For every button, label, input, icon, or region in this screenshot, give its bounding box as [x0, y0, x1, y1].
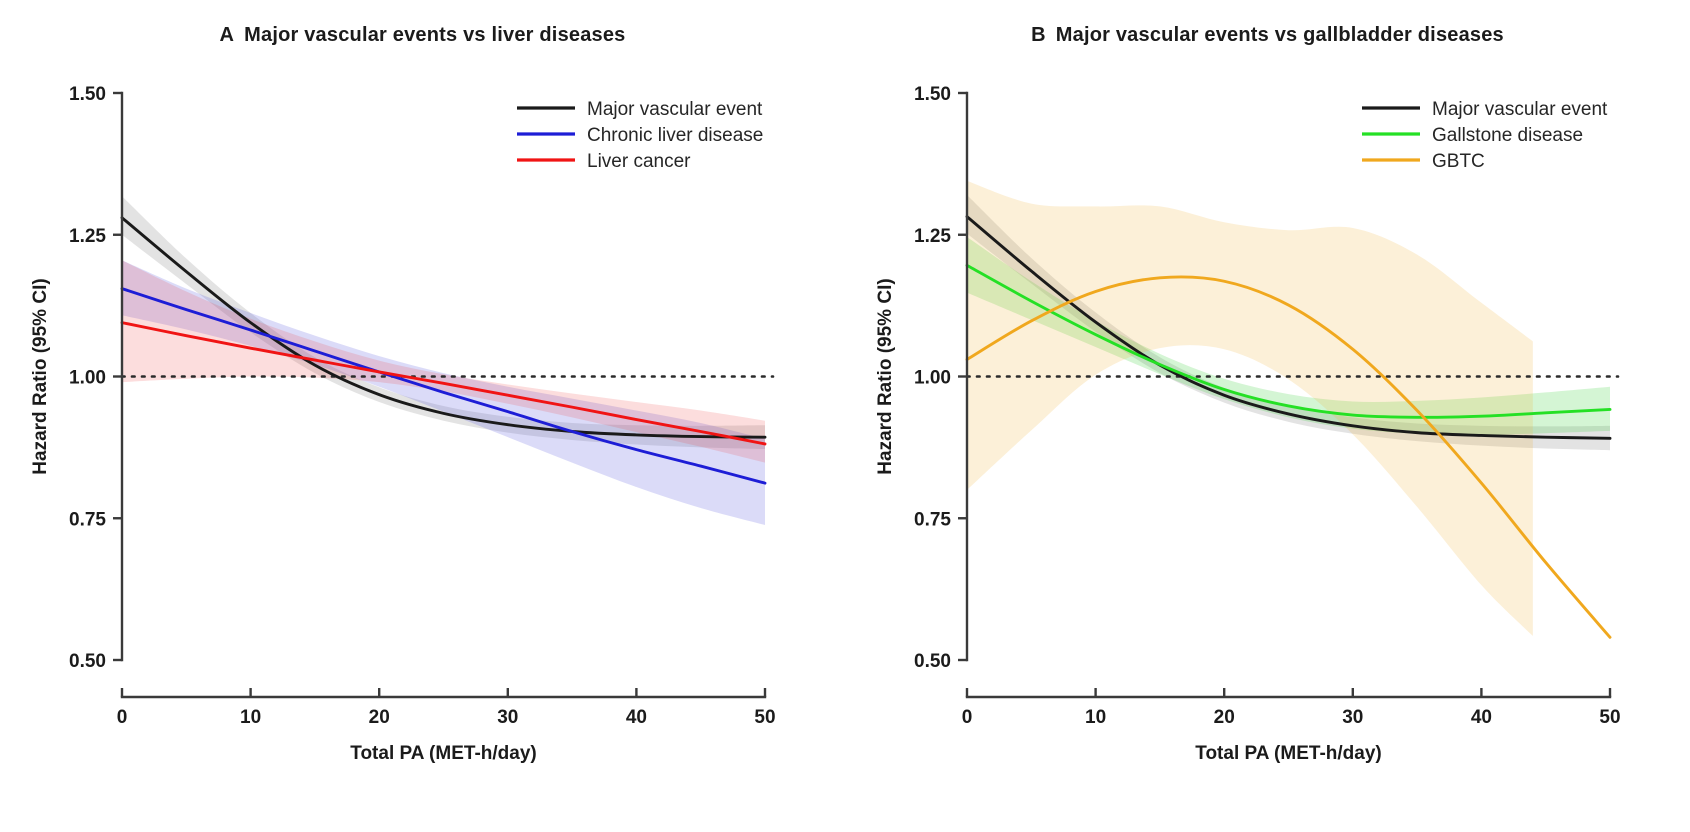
legend-label-3: Liver cancer [587, 151, 691, 172]
legend: Major vascular eventGallstone diseaseGBT… [1362, 99, 1608, 172]
legend-label-2: Gallstone disease [1432, 125, 1583, 146]
y-tick-label: 1.50 [914, 84, 951, 105]
panel-b: BMajor vascular events vs gallbladder di… [845, 0, 1690, 832]
y-tick-label: 1.25 [914, 226, 951, 247]
panel-title-text: Major vascular events vs gallbladder dis… [1056, 24, 1504, 46]
panel-title: AMajor vascular events vs liver diseases [0, 24, 845, 47]
y-tick-label: 0.75 [69, 509, 106, 530]
y-tick-label: 1.50 [69, 84, 106, 105]
y-tick-label: 1.00 [69, 368, 106, 389]
panel-letter: B [1031, 24, 1046, 46]
x-axis: 01020304050Total PA (MET-h/day) [117, 688, 776, 764]
y-axis-title: Hazard Ratio (95% CI) [30, 278, 51, 474]
x-tick-label: 30 [1342, 707, 1363, 728]
legend-label-1: Major vascular event [587, 99, 763, 120]
y-tick-label: 0.75 [914, 509, 951, 530]
legend-label-3: GBTC [1432, 151, 1485, 172]
x-tick-label: 0 [117, 707, 128, 728]
plot-area: 0.500.751.001.251.50Hazard Ratio (95% CI… [0, 0, 845, 832]
y-axis: 0.500.751.001.251.50Hazard Ratio (95% CI… [875, 84, 967, 672]
confidence-bands [122, 196, 765, 525]
y-axis: 0.500.751.001.251.50Hazard Ratio (95% CI… [30, 84, 122, 672]
panel-title-text: Major vascular events vs liver diseases [244, 24, 625, 46]
x-tick-label: 10 [1085, 707, 1106, 728]
panel-letter: A [219, 24, 234, 46]
x-tick-label: 20 [1214, 707, 1235, 728]
x-tick-label: 10 [240, 707, 261, 728]
y-tick-label: 1.25 [69, 226, 106, 247]
x-tick-label: 40 [1471, 707, 1492, 728]
x-tick-label: 50 [754, 707, 775, 728]
panel-title: BMajor vascular events vs gallbladder di… [845, 24, 1690, 47]
curve-3 [122, 323, 765, 444]
panel-a: AMajor vascular events vs liver diseases… [0, 0, 845, 832]
y-tick-label: 0.50 [69, 651, 106, 672]
x-tick-label: 50 [1599, 707, 1620, 728]
x-axis-title: Total PA (MET-h/day) [1195, 743, 1381, 764]
y-tick-label: 1.00 [914, 368, 951, 389]
x-tick-label: 20 [369, 707, 390, 728]
legend-label-1: Major vascular event [1432, 99, 1608, 120]
x-tick-label: 40 [626, 707, 647, 728]
y-axis-title: Hazard Ratio (95% CI) [875, 278, 896, 474]
legend: Major vascular eventChronic liver diseas… [517, 99, 763, 172]
x-tick-label: 0 [962, 707, 973, 728]
x-tick-label: 30 [497, 707, 518, 728]
x-axis: 01020304050Total PA (MET-h/day) [962, 688, 1621, 764]
y-tick-label: 0.50 [914, 651, 951, 672]
x-axis-title: Total PA (MET-h/day) [350, 743, 536, 764]
legend-label-2: Chronic liver disease [587, 125, 763, 146]
plot-area: 0.500.751.001.251.50Hazard Ratio (95% CI… [845, 0, 1690, 832]
confidence-bands [967, 181, 1610, 636]
figure-container: AMajor vascular events vs liver diseases… [0, 0, 1690, 832]
